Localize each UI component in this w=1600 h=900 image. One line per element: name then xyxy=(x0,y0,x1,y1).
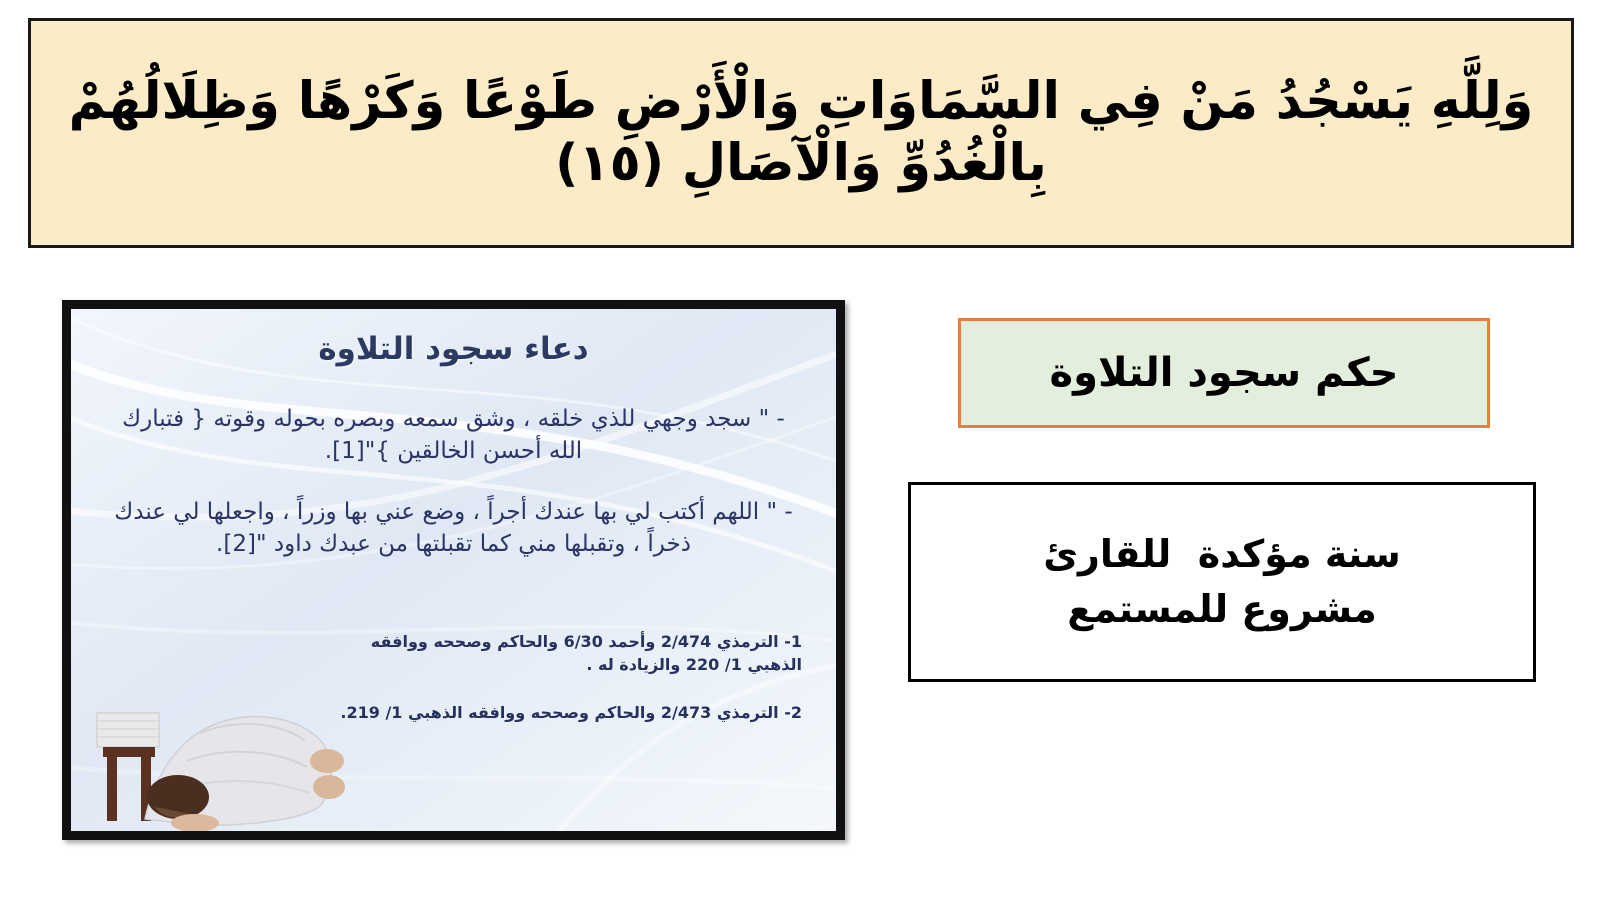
dua-image-card: دعاء سجود التلاوة - " سجد وجهي للذي خلقه… xyxy=(62,300,845,840)
dua-card-title: دعاء سجود التلاوة xyxy=(71,331,836,367)
ruling-title-box: حكم سجود التلاوة xyxy=(958,318,1490,428)
ruling-line-listener: مشروع للمستمع xyxy=(1067,582,1377,637)
dua-card-body: - " سجد وجهي للذي خلقه ، وشق سمعه وبصره … xyxy=(105,404,802,591)
praying-person-figure xyxy=(145,717,345,831)
verse-banner: وَلِلَّهِ يَسْجُدُ مَنْ فِي السَّمَاوَات… xyxy=(28,18,1574,248)
ruling-line-reciter: سنة مؤكدة للقارئ xyxy=(1043,527,1401,582)
ruling-detail-box: سنة مؤكدة للقارئ مشروع للمستمع xyxy=(908,482,1536,682)
dua-paragraph-1: - " سجد وجهي للذي خلقه ، وشق سمعه وبصره … xyxy=(105,404,802,467)
sujood-photo xyxy=(83,621,443,831)
ruling-title-text: حكم سجود التلاوة xyxy=(1050,350,1399,396)
dua-paragraph-2: - " اللهم أكتب لي بها عندك أجراً ، وضع ع… xyxy=(105,497,802,560)
dua-card-background: دعاء سجود التلاوة - " سجد وجهي للذي خلقه… xyxy=(71,309,836,831)
verse-text: وَلِلَّهِ يَسْجُدُ مَنْ فِي السَّمَاوَات… xyxy=(49,71,1553,195)
